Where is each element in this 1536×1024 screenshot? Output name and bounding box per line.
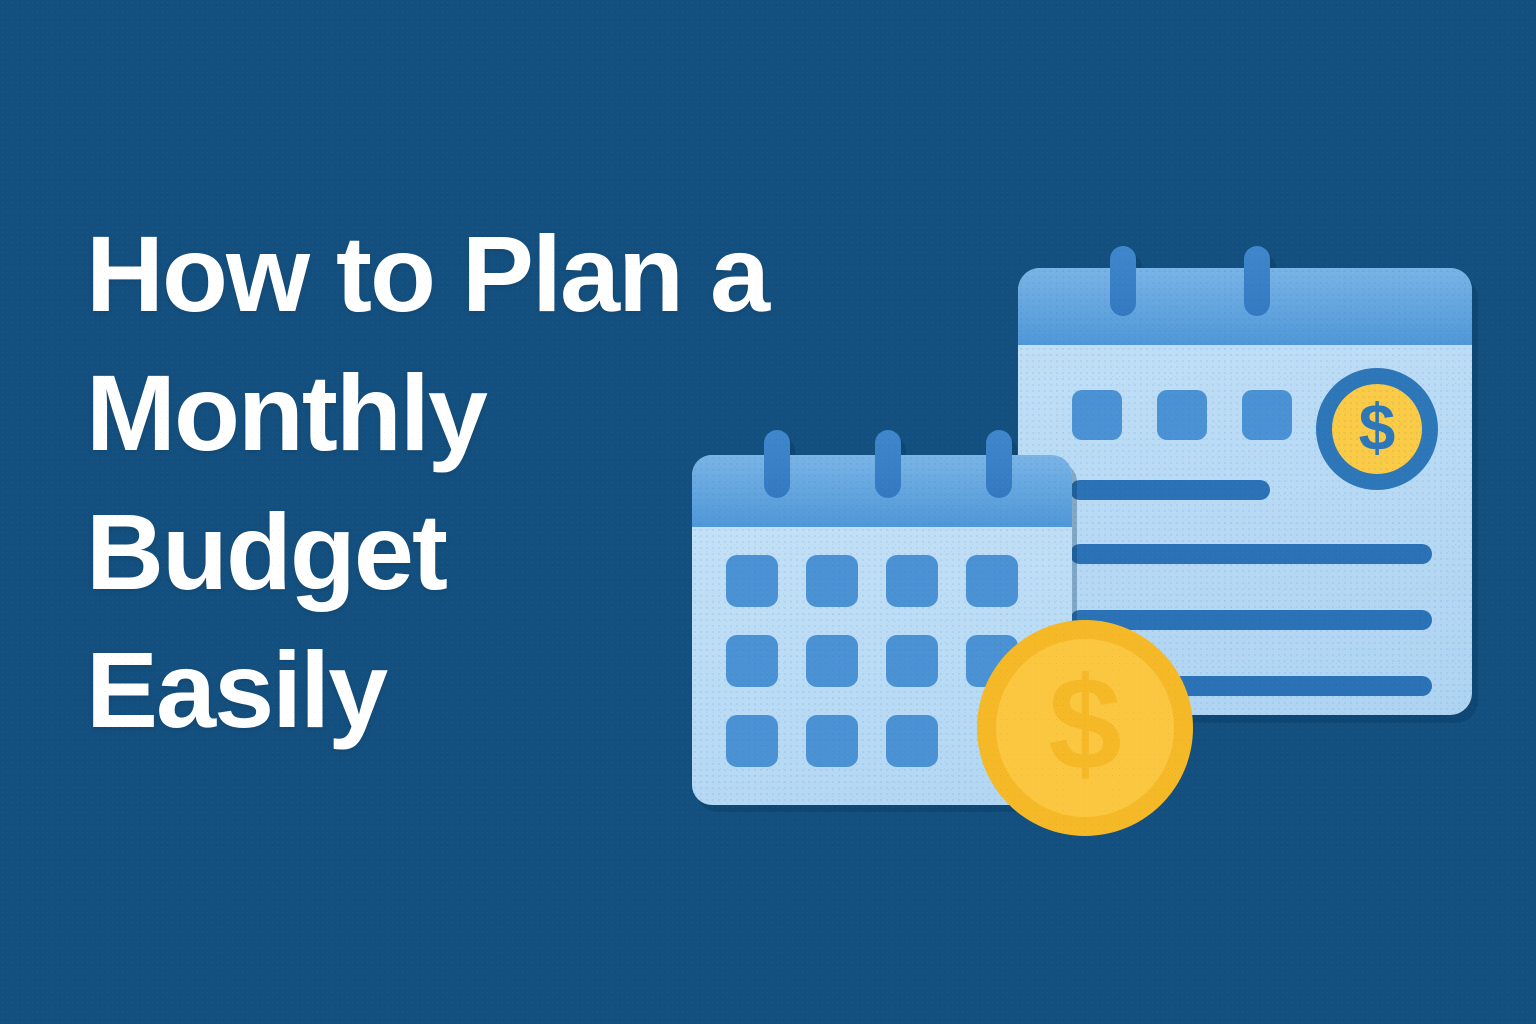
poster-canvas: How to Plan a Monthly Budget Easily $ <box>0 0 1536 1024</box>
calendar-date-grid <box>726 555 1018 767</box>
title-line-1: How to Plan a <box>86 205 706 344</box>
calendar-back-square <box>1242 390 1292 440</box>
calendar-date-cell <box>966 555 1018 607</box>
calendar-ring-icon <box>764 430 790 498</box>
calendar-back-line <box>1070 480 1270 500</box>
calendar-date-cell <box>886 555 938 607</box>
calendar-ring-icon <box>986 430 1012 498</box>
dollar-sign-icon: $ <box>1359 394 1396 460</box>
calendar-back-square-row <box>1072 390 1292 440</box>
calendar-date-cell <box>726 715 778 767</box>
coin-badge-face: $ <box>1332 384 1422 474</box>
calendar-ring-icon <box>1110 246 1136 316</box>
calendar-date-cell <box>806 715 858 767</box>
title-line-3: Budget <box>86 483 706 622</box>
calendar-ring-icon <box>1244 246 1270 316</box>
title-line-4: Easily <box>86 621 706 760</box>
calendar-back-square <box>1072 390 1122 440</box>
page-title: How to Plan a Monthly Budget Easily <box>86 205 706 760</box>
coin-face: $ <box>996 639 1174 817</box>
calendar-date-cell <box>886 715 938 767</box>
calendar-date-cell <box>806 635 858 687</box>
title-line-2: Monthly <box>86 344 706 483</box>
calendar-back-square <box>1157 390 1207 440</box>
dollar-coin-badge-icon: $ <box>1316 368 1438 490</box>
calendar-date-cell <box>726 555 778 607</box>
calendar-ring-icon <box>875 430 901 498</box>
dollar-coin-icon: $ <box>977 620 1193 836</box>
calendar-date-cell <box>886 635 938 687</box>
calendar-back-line <box>1070 544 1432 564</box>
dollar-sign-icon: $ <box>1048 658 1121 790</box>
calendar-date-cell <box>806 555 858 607</box>
calendar-date-cell <box>726 635 778 687</box>
